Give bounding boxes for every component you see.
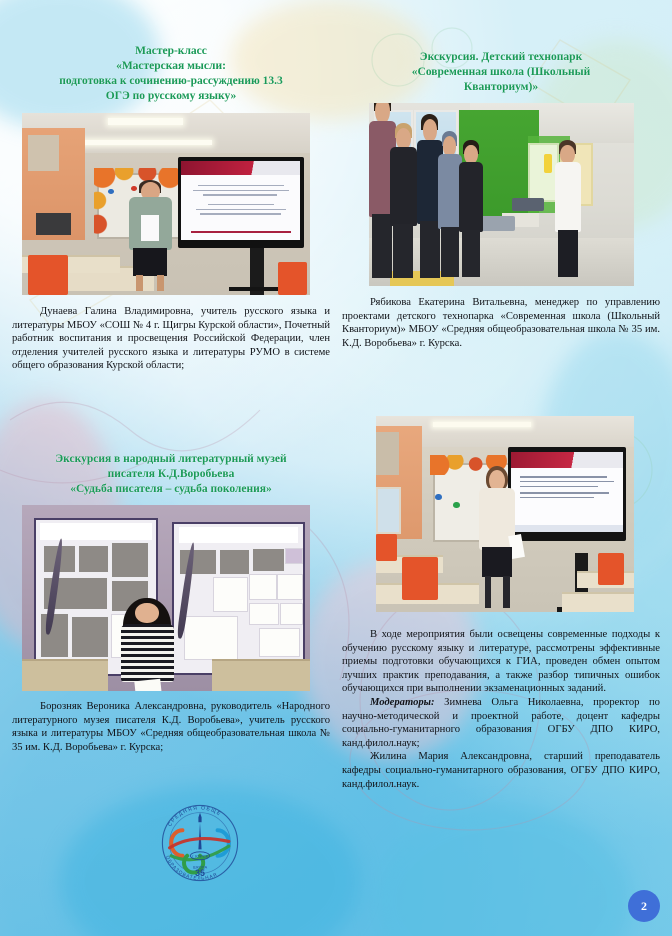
heading-line: писателя К.Д.Воробьева	[108, 468, 235, 480]
section-summary: В ходе мероприятия были освещены совреме…	[342, 416, 660, 791]
section-master-class: Мастер-класс «Мастерская мысли: подготов…	[12, 44, 330, 373]
heading-line: подготовка к сочинению-рассуждению 13.3	[59, 75, 283, 87]
moderators-label: Модераторы:	[370, 697, 435, 708]
section-technopark-excursion: Экскурсия. Детский технопарк «Современна…	[342, 50, 660, 350]
moderator-2-paragraph: Жилина Мария Александровна, старший преп…	[342, 750, 660, 791]
visitor	[390, 147, 417, 275]
heading-line: Экскурсия. Детский технопарк	[420, 51, 582, 63]
technopark-heading: Экскурсия. Детский технопарк «Современна…	[342, 50, 660, 95]
tour-guide	[555, 162, 582, 275]
photo-summary-classroom	[376, 416, 634, 612]
museum-excursion-heading: Экскурсия в народный литературный музей …	[12, 452, 330, 497]
photo-master-class-classroom	[22, 113, 310, 295]
heading-line: «Мастерская мысли:	[116, 60, 226, 72]
section-museum-excursion: Экскурсия в народный литературный музей …	[12, 452, 330, 754]
school-35-emblem-icon: СРЕДНЯЯ ОБЩЕ ОБРАЗОВАТЕЛЬНАЯ г. КУРСК ШК…	[152, 795, 248, 891]
master-class-heading: Мастер-класс «Мастерская мысли: подготов…	[12, 44, 330, 104]
photo-museum-exhibition	[22, 505, 310, 691]
summary-paragraph: В ходе мероприятия были освещены совреме…	[342, 628, 660, 696]
heading-line: Экскурсия в народный литературный музей	[55, 453, 286, 465]
heading-line: «Судьба писателя – судьба поколения»	[70, 483, 271, 495]
master-class-body: Дунаева Галина Владимировна, учитель рус…	[12, 305, 330, 373]
page-number-badge: 2	[628, 890, 660, 922]
moderators-paragraph: Модераторы: Зимнева Ольга Николаевна, пр…	[342, 696, 660, 750]
heading-line: ОГЭ по русскому языку»	[106, 90, 237, 102]
technopark-body: Рябикова Екатерина Витальевна, менеджер …	[342, 296, 660, 350]
heading-line: «Современная школа (Школьный	[412, 66, 590, 78]
newsletter-page: Мастер-класс «Мастерская мысли: подготов…	[0, 0, 672, 936]
heading-line: Мастер-класс	[135, 45, 207, 57]
photo-technopark-corridor	[369, 103, 634, 286]
visitor	[459, 162, 483, 275]
heading-line: Кванториум)»	[464, 81, 538, 93]
svg-text:35: 35	[195, 868, 205, 878]
svg-text:г. КУРСК: г. КУРСК	[192, 853, 209, 858]
museum-excursion-body: Борозняк Вероника Александровна, руковод…	[12, 700, 330, 754]
